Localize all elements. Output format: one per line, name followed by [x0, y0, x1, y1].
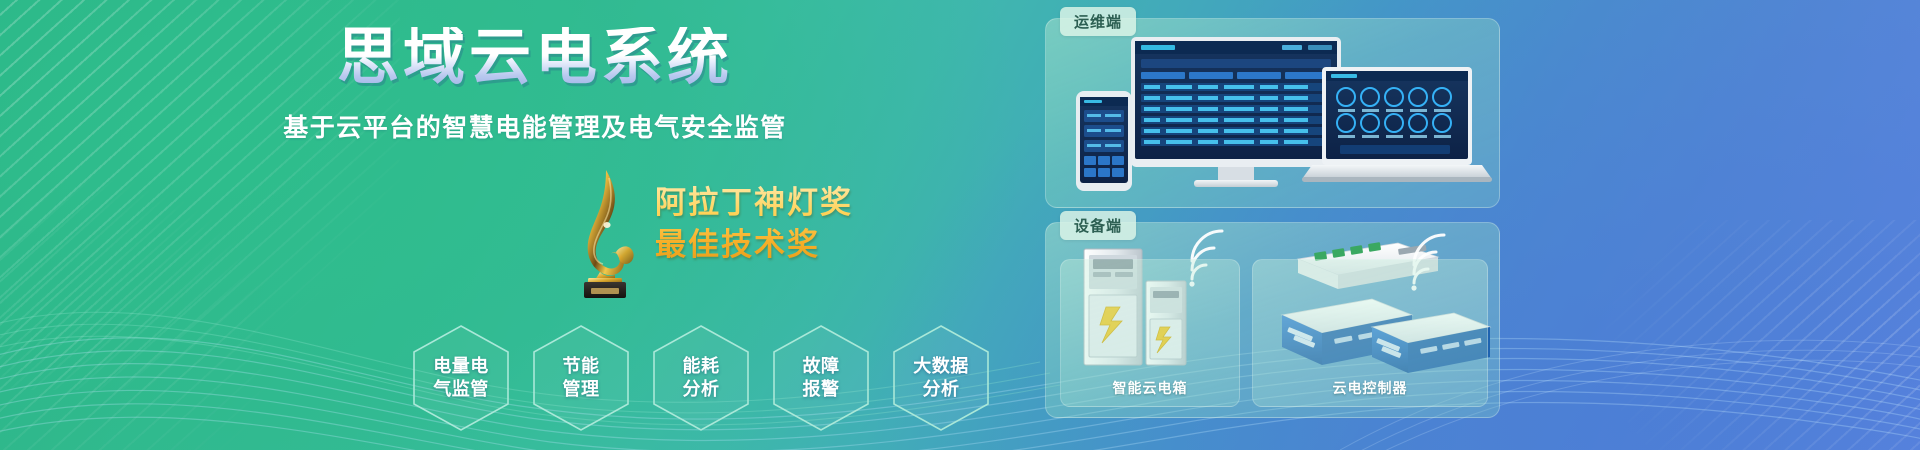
device-caption: 智能云电箱: [1061, 378, 1239, 398]
award-row: 阿拉丁神灯奖 最佳技术奖: [0, 168, 1040, 298]
feature-tag-label: 能耗 分析: [683, 355, 720, 401]
page-subtitle: 基于云平台的智慧电能管理及电气安全监管: [0, 108, 1040, 144]
feature-tag-1[interactable]: 节能 管理: [528, 322, 634, 434]
trophy-icon: [562, 168, 646, 298]
feature-tag-4[interactable]: 大数据 分析: [888, 322, 994, 434]
device-caption: 云电控制器: [1253, 378, 1487, 398]
feature-tag-label: 大数据 分析: [913, 355, 969, 401]
award-line-2: 最佳技术奖: [655, 224, 853, 266]
device-card-controller[interactable]: 云电控制器: [1252, 259, 1488, 407]
right-panels-column: 运维端: [1045, 18, 1500, 434]
award-line-1: 阿拉丁神灯奖: [655, 182, 853, 224]
laptop-icon: [1302, 67, 1492, 182]
feature-tag-0[interactable]: 电量电 气监管: [408, 322, 514, 434]
feature-tag-row: 电量电 气监管 节能 管理 能耗 分析 故障 报警: [408, 322, 1008, 434]
panel-operations: 运维端: [1045, 18, 1500, 208]
device-card-cabinet[interactable]: 智能云电箱: [1060, 259, 1240, 407]
left-content-column: 思域云电系统 基于云平台的智慧电能管理及电气安全监管: [0, 0, 1040, 450]
operations-devices-illustration: [1046, 19, 1501, 209]
desktop-monitor-icon: [1131, 37, 1341, 187]
feature-tag-label: 节能 管理: [563, 355, 600, 401]
feature-tag-label: 电量电 气监管: [433, 355, 489, 401]
feature-tag-label: 故障 报警: [803, 355, 840, 401]
feature-tag-3[interactable]: 故障 报警: [768, 322, 874, 434]
feature-tag-2[interactable]: 能耗 分析: [648, 322, 754, 434]
page-title: 思域云电系统: [0, 27, 1040, 89]
smartphone-icon: [1076, 91, 1132, 191]
award-text: 阿拉丁神灯奖 最佳技术奖: [655, 182, 853, 265]
promo-banner: 思域云电系统 基于云平台的智慧电能管理及电气安全监管: [0, 0, 1920, 450]
panel-devices: 设备端: [1045, 222, 1500, 418]
